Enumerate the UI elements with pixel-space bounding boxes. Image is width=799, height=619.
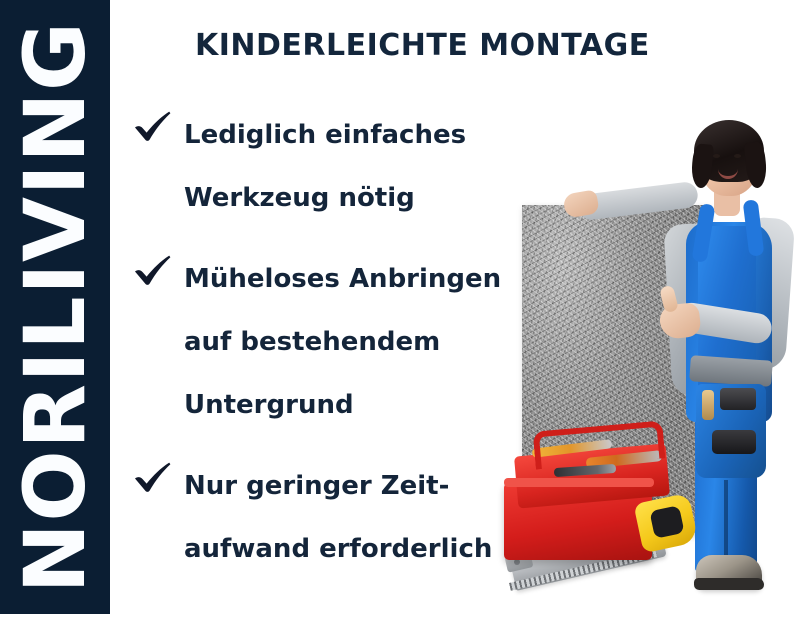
list-item-line: Werkzeug nötig xyxy=(184,167,522,230)
worker-eye-right xyxy=(734,154,741,158)
content-column: KINDERLEICHTE MONTAGE Lediglich einfache… xyxy=(110,0,799,619)
list-item-line: aufwand erforderlich xyxy=(184,518,522,581)
pouch-tool-handle xyxy=(702,390,714,420)
list-item-line: Nur geringer Zeit- xyxy=(184,455,522,518)
pouch-tool-body xyxy=(720,388,756,410)
check-mark-icon xyxy=(122,248,184,286)
list-item-line: Müheloses Anbringen xyxy=(184,248,522,311)
promo-banner: NORILIVING KINDERLEICHTE MONTAGE Ledigli… xyxy=(0,0,799,619)
pouch-tool-clip xyxy=(712,430,756,454)
list-item-text: Müheloses Anbringen auf bestehendem Unte… xyxy=(184,248,522,437)
brand-wordmark: NORILIVING xyxy=(13,21,97,594)
product-photo xyxy=(490,100,799,600)
list-item-text: Lediglich einfaches Werkzeug nötig xyxy=(184,104,522,230)
worker-eye-left xyxy=(713,154,720,158)
check-mark-icon xyxy=(122,104,184,142)
brand-band: NORILIVING xyxy=(0,0,110,614)
toolbox-front-lip xyxy=(504,478,654,487)
page-title: KINDERLEICHTE MONTAGE xyxy=(195,28,650,63)
benefit-list: Lediglich einfaches Werkzeug nötig Mühel… xyxy=(122,104,522,599)
worker-boot-sole xyxy=(694,578,764,590)
list-item: Müheloses Anbringen auf bestehendem Unte… xyxy=(122,248,522,437)
list-item-line: Untergrund xyxy=(184,374,522,437)
list-item: Lediglich einfaches Werkzeug nötig xyxy=(122,104,522,230)
check-mark-icon xyxy=(122,455,184,493)
list-item-line: Lediglich einfaches xyxy=(184,104,522,167)
list-item-line: auf bestehendem xyxy=(184,311,522,374)
list-item-text: Nur geringer Zeit- aufwand erforderlich xyxy=(184,455,522,581)
list-item: Nur geringer Zeit- aufwand erforderlich xyxy=(122,455,522,581)
